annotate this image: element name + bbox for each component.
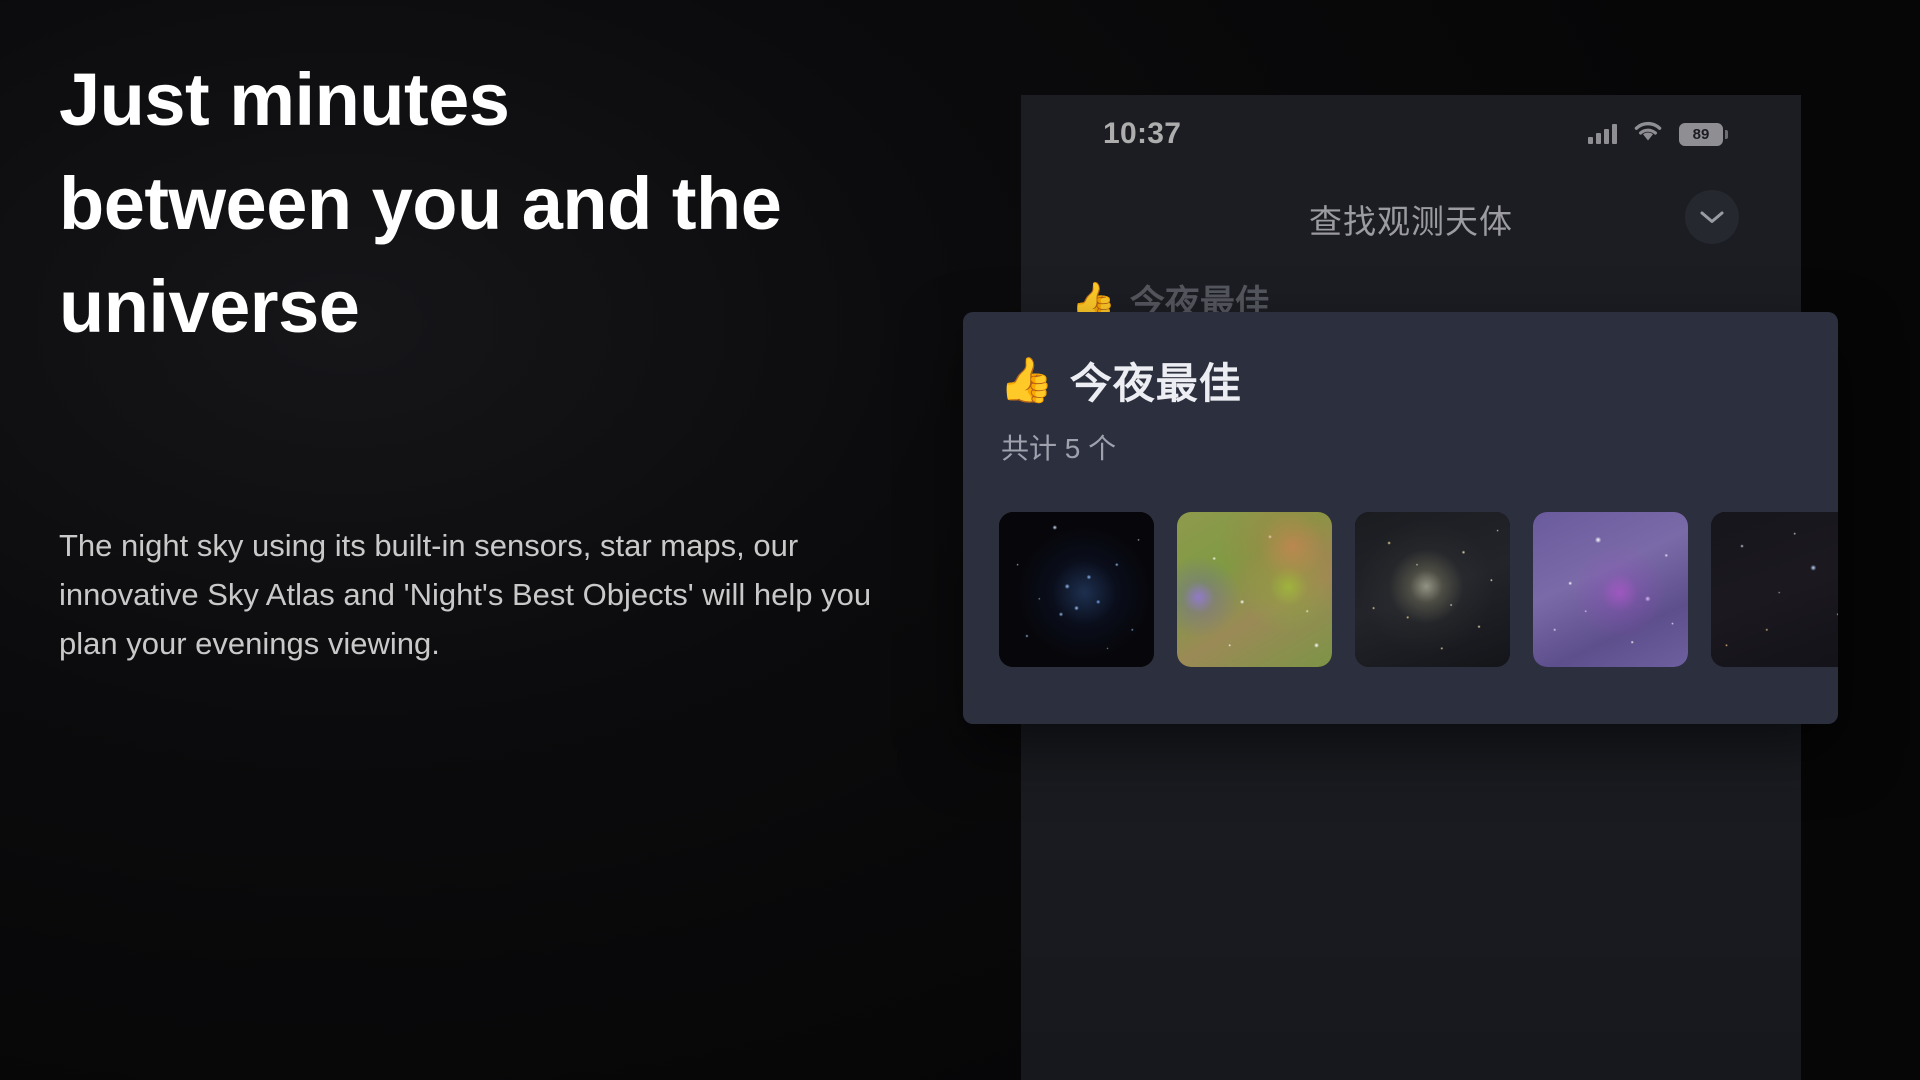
hero-copy: Just minutes between you and the univers… [59, 48, 909, 359]
tonight-best-overlay-card: 👍 今夜最佳 共计 5 个 [963, 312, 1838, 724]
status-bar: 10:37 89 [1021, 95, 1801, 173]
wifi-icon [1633, 121, 1663, 148]
nebula-green-thumbnail[interactable] [1177, 512, 1332, 667]
page-title: Just minutes between you and the univers… [59, 48, 819, 359]
app-header: 查找观测天体 [1021, 173, 1801, 265]
starfield-dark-thumbnail[interactable] [1711, 512, 1838, 667]
overlay-subtitle: 共计 5 个 [1001, 427, 1838, 467]
battery-level: 89 [1693, 126, 1710, 143]
overlay-title-row: 👍 今夜最佳 [999, 350, 1838, 411]
thumbs-up-icon: 👍 [999, 359, 1054, 403]
battery-icon: 89 [1679, 123, 1723, 146]
cellular-signal-icon [1588, 124, 1617, 144]
status-time: 10:37 [1103, 117, 1181, 151]
overlay-title: 今夜最佳 [1070, 350, 1242, 411]
chevron-down-icon [1699, 209, 1725, 225]
collapse-button[interactable] [1685, 190, 1739, 244]
globular-cluster-gold-thumbnail[interactable] [1355, 512, 1510, 667]
overlay-thumbnail-strip[interactable] [999, 512, 1838, 667]
open-cluster-blue-thumbnail[interactable] [999, 512, 1154, 667]
app-title: 查找观测天体 [1309, 195, 1513, 243]
hero-paragraph: The night sky using its built-in sensors… [59, 522, 879, 669]
page-root: Just minutes between you and the univers… [0, 0, 1920, 1080]
nebula-violet-thumbnail[interactable] [1533, 512, 1688, 667]
status-icon-group: 89 [1588, 121, 1723, 148]
